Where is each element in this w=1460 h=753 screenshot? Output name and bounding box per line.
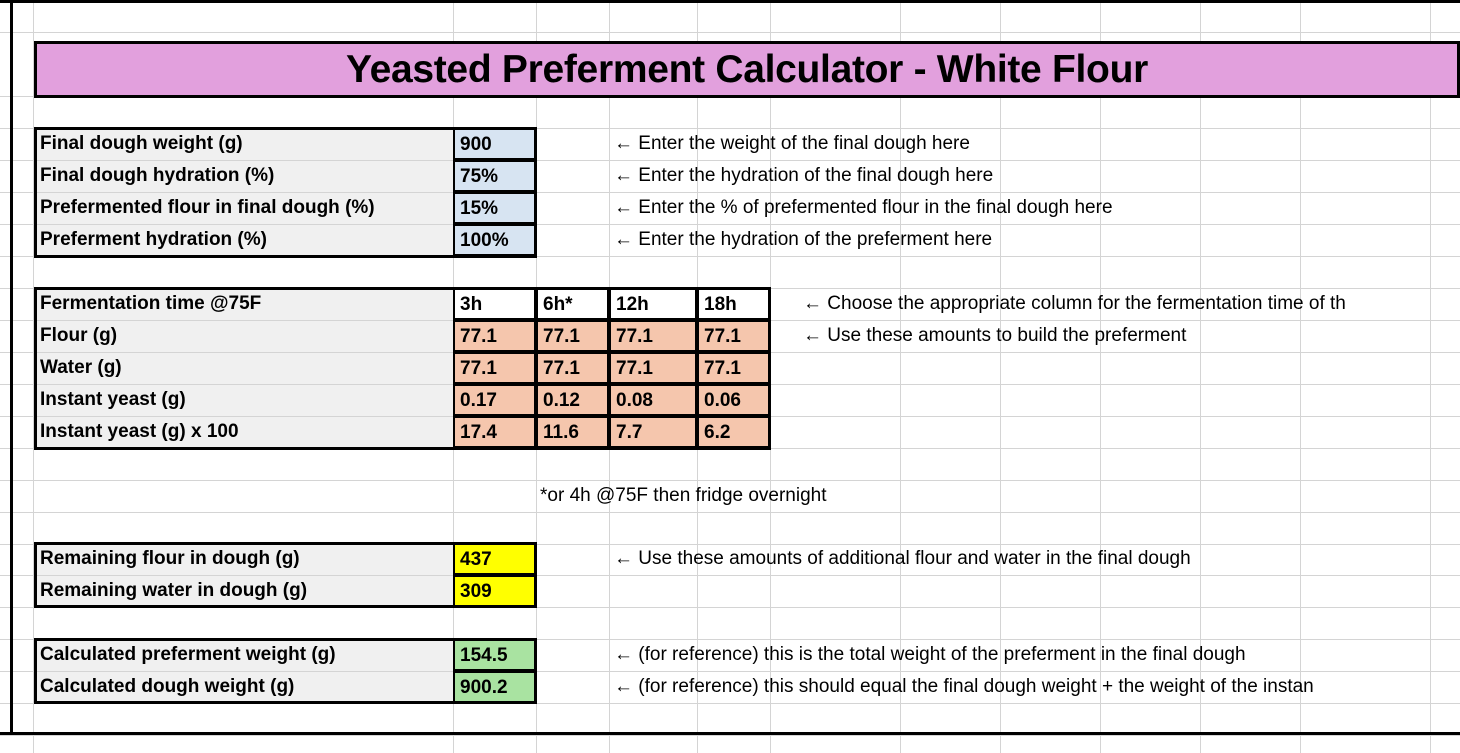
input-label-2: Prefermented flour in final dough (%): [34, 193, 453, 224]
footnote-text: *or 4h @75F then fridge overnight: [540, 481, 827, 511]
ferment-note-rows: ← Use these amounts to build the preferm…: [803, 321, 1186, 351]
input-value-final-dough-weight[interactable]: 900: [453, 128, 536, 160]
input-value-preferment-hydration[interactable]: 100%: [453, 224, 536, 256]
page-title-banner: Yeasted Preferment Calculator - White Fl…: [34, 41, 1460, 98]
grid-line-h: [0, 448, 1460, 449]
ferment-cell-yeast-x100-3h: 17.4: [453, 416, 536, 448]
ferment-column-12h[interactable]: 12h: [609, 288, 697, 320]
ferment-cell-water-3h: 77.1: [453, 352, 536, 384]
remaining-label-water: Remaining water in dough (g): [34, 576, 453, 607]
page-title: Yeasted Preferment Calculator - White Fl…: [346, 48, 1148, 92]
ferment-cell-water-6h: 77.1: [536, 352, 609, 384]
calculated-value-preferment-weight: 154.5: [453, 639, 536, 671]
ferment-column-18h[interactable]: 18h: [697, 288, 770, 320]
grid-line-h: [0, 607, 1460, 608]
grid-line-h: [0, 703, 1460, 704]
ferment-cell-flour-18h: 77.1: [697, 320, 770, 352]
calculated-note-0: ← (for reference) this is the total weig…: [614, 640, 1246, 670]
ferment-cell-yeast-x100-6h: 11.6: [536, 416, 609, 448]
ferment-cell-water-18h: 77.1: [697, 352, 770, 384]
input-label-1: Final dough hydration (%): [34, 161, 453, 192]
ferment-cell-yeast-x100-18h: 6.2: [697, 416, 770, 448]
grid-line-h: [0, 32, 1460, 33]
input-label-3: Preferment hydration (%): [34, 225, 453, 256]
ferment-row-label-yeast: Instant yeast (g): [34, 385, 453, 416]
grid-line-h: [0, 735, 1460, 736]
ferment-cell-flour-12h: 77.1: [609, 320, 697, 352]
ferment-row-label-flour: Flour (g): [34, 321, 453, 352]
grid-line-h: [0, 256, 1460, 257]
remaining-label-flour: Remaining flour in dough (g): [34, 544, 453, 575]
grid-line-h: [0, 512, 1460, 513]
ferment-cell-yeast-6h: 0.12: [536, 384, 609, 416]
ferment-row-label-yeast-x100: Instant yeast (g) x 100: [34, 417, 453, 448]
grid-line-v: [1430, 0, 1431, 753]
ferment-column-3h[interactable]: 3h: [453, 288, 536, 320]
calculated-label-preferment-weight: Calculated preferment weight (g): [34, 640, 453, 671]
print-area-left-border: [10, 0, 13, 735]
ferment-cell-yeast-x100-12h: 7.7: [609, 416, 697, 448]
input-note-1: ← Enter the hydration of the final dough…: [614, 161, 993, 191]
input-note-3: ← Enter the hydration of the preferment …: [614, 225, 992, 255]
ferment-note-header: ← Choose the appropriate column for the …: [803, 289, 1346, 319]
input-note-2: ← Enter the % of prefermented flour in t…: [614, 193, 1113, 223]
remaining-value-flour: 437: [453, 543, 536, 575]
ferment-header-label: Fermentation time @75F: [34, 289, 453, 320]
input-value-preferment-flour-pct[interactable]: 15%: [453, 192, 536, 224]
input-label-0: Final dough weight (g): [34, 129, 453, 160]
print-area-top-border: [0, 0, 1460, 3]
calculated-note-1: ← (for reference) this should equal the …: [614, 672, 1314, 702]
calculated-value-dough-weight: 900.2: [453, 671, 536, 703]
remaining-value-water: 309: [453, 575, 536, 607]
ferment-cell-water-12h: 77.1: [609, 352, 697, 384]
grid-line-v: [1300, 0, 1301, 753]
print-area-bottom-border: [0, 732, 1460, 735]
ferment-cell-yeast-12h: 0.08: [609, 384, 697, 416]
ferment-cell-yeast-18h: 0.06: [697, 384, 770, 416]
remaining-note: ← Use these amounts of additional flour …: [614, 544, 1191, 574]
ferment-cell-flour-3h: 77.1: [453, 320, 536, 352]
calculated-label-dough-weight: Calculated dough weight (g): [34, 672, 453, 703]
ferment-cell-flour-6h: 77.1: [536, 320, 609, 352]
ferment-cell-yeast-3h: 0.17: [453, 384, 536, 416]
ferment-column-6h[interactable]: 6h*: [536, 288, 609, 320]
input-value-final-dough-hydration[interactable]: 75%: [453, 160, 536, 192]
input-note-0: ← Enter the weight of the final dough he…: [614, 129, 970, 159]
ferment-row-label-water: Water (g): [34, 353, 453, 384]
spreadsheet-canvas: Yeasted Preferment Calculator - White Fl…: [0, 0, 1460, 753]
